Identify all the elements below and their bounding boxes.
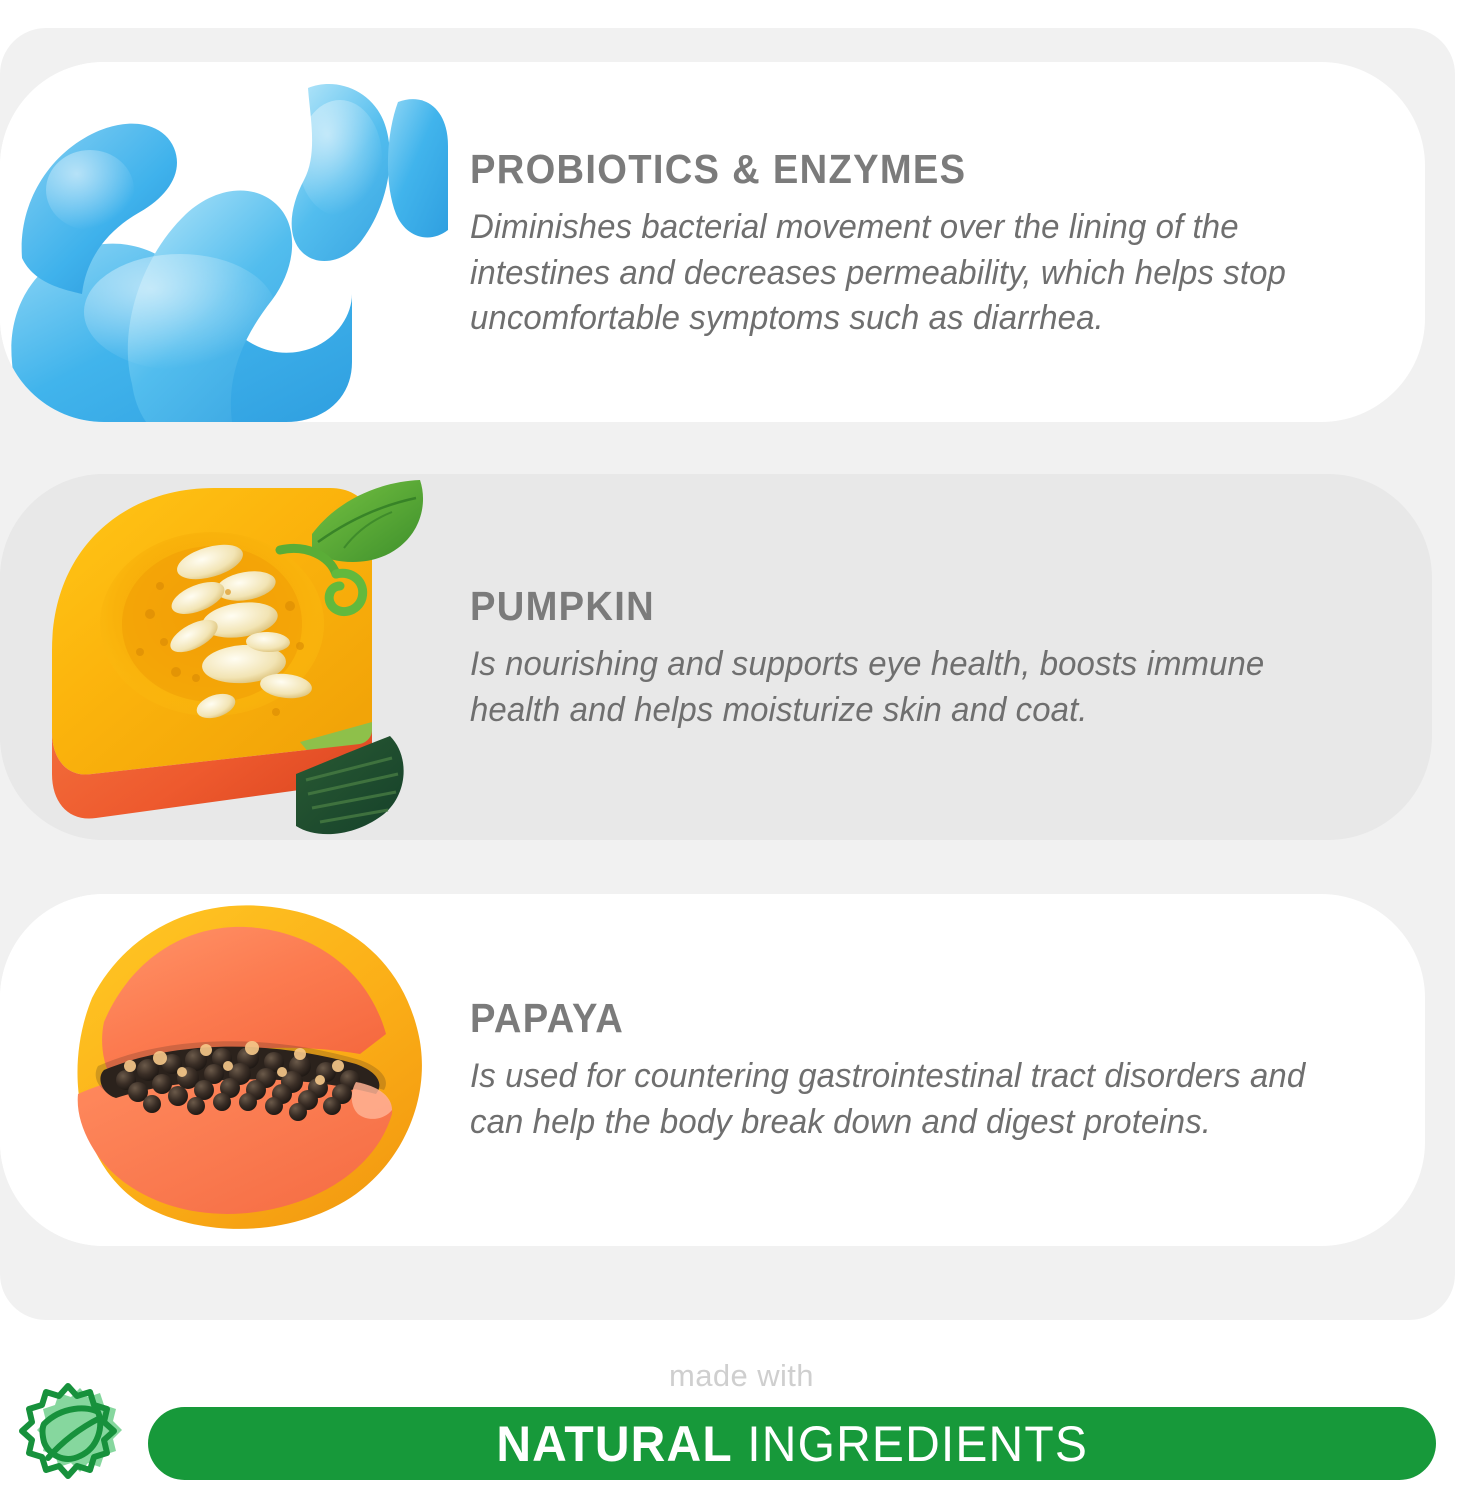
banner-text: NATURAL INGREDIENTS <box>496 1419 1088 1469</box>
gel-highlight <box>46 150 134 230</box>
natural-ingredients-banner: NATURAL INGREDIENTS <box>148 1407 1436 1480</box>
card-description: Is used for countering gastrointestinal … <box>470 1054 1310 1146</box>
card-media-papaya <box>0 894 448 1246</box>
ingredient-card-probiotics: PROBIOTICS & ENZYMES Diminishes bacteria… <box>0 62 1425 422</box>
card-title: PAPAYA <box>470 997 1302 1040</box>
card-body-probiotics: PROBIOTICS & ENZYMES Diminishes bacteria… <box>448 62 1425 422</box>
leaf-badge-icon <box>14 1378 136 1500</box>
gel-highlight <box>298 100 382 216</box>
probiotics-gel-capsules-photo <box>0 62 448 422</box>
halved-pumpkin-photo <box>0 474 448 840</box>
made-with-label: made with <box>0 1358 1483 1394</box>
card-title: PUMPKIN <box>470 585 1309 628</box>
ingredient-card-pumpkin: PUMPKIN Is nourishing and supports eye h… <box>0 474 1432 840</box>
banner-word-natural: NATURAL <box>496 1416 732 1472</box>
card-body-papaya: PAPAYA Is used for countering gastrointe… <box>448 894 1425 1246</box>
infographic-root: PROBIOTICS & ENZYMES Diminishes bacteria… <box>0 0 1483 1500</box>
card-media-probiotics <box>0 62 448 422</box>
card-body-pumpkin: PUMPKIN Is nourishing and supports eye h… <box>448 474 1432 840</box>
card-title: PROBIOTICS & ENZYMES <box>470 148 1302 191</box>
leaf-badge-graphic <box>14 1378 136 1500</box>
card-description: Diminishes bacterial movement over the l… <box>470 205 1310 343</box>
ingredients-panel: PROBIOTICS & ENZYMES Diminishes bacteria… <box>0 28 1455 1320</box>
card-media-pumpkin <box>0 474 448 840</box>
card-description: Is nourishing and supports eye health, b… <box>470 642 1310 734</box>
ingredient-card-papaya: PAPAYA Is used for countering gastrointe… <box>0 894 1425 1246</box>
gel-highlight <box>84 254 276 370</box>
halved-papaya-photo <box>0 894 448 1246</box>
banner-word-ingredients: INGREDIENTS <box>733 1416 1088 1472</box>
